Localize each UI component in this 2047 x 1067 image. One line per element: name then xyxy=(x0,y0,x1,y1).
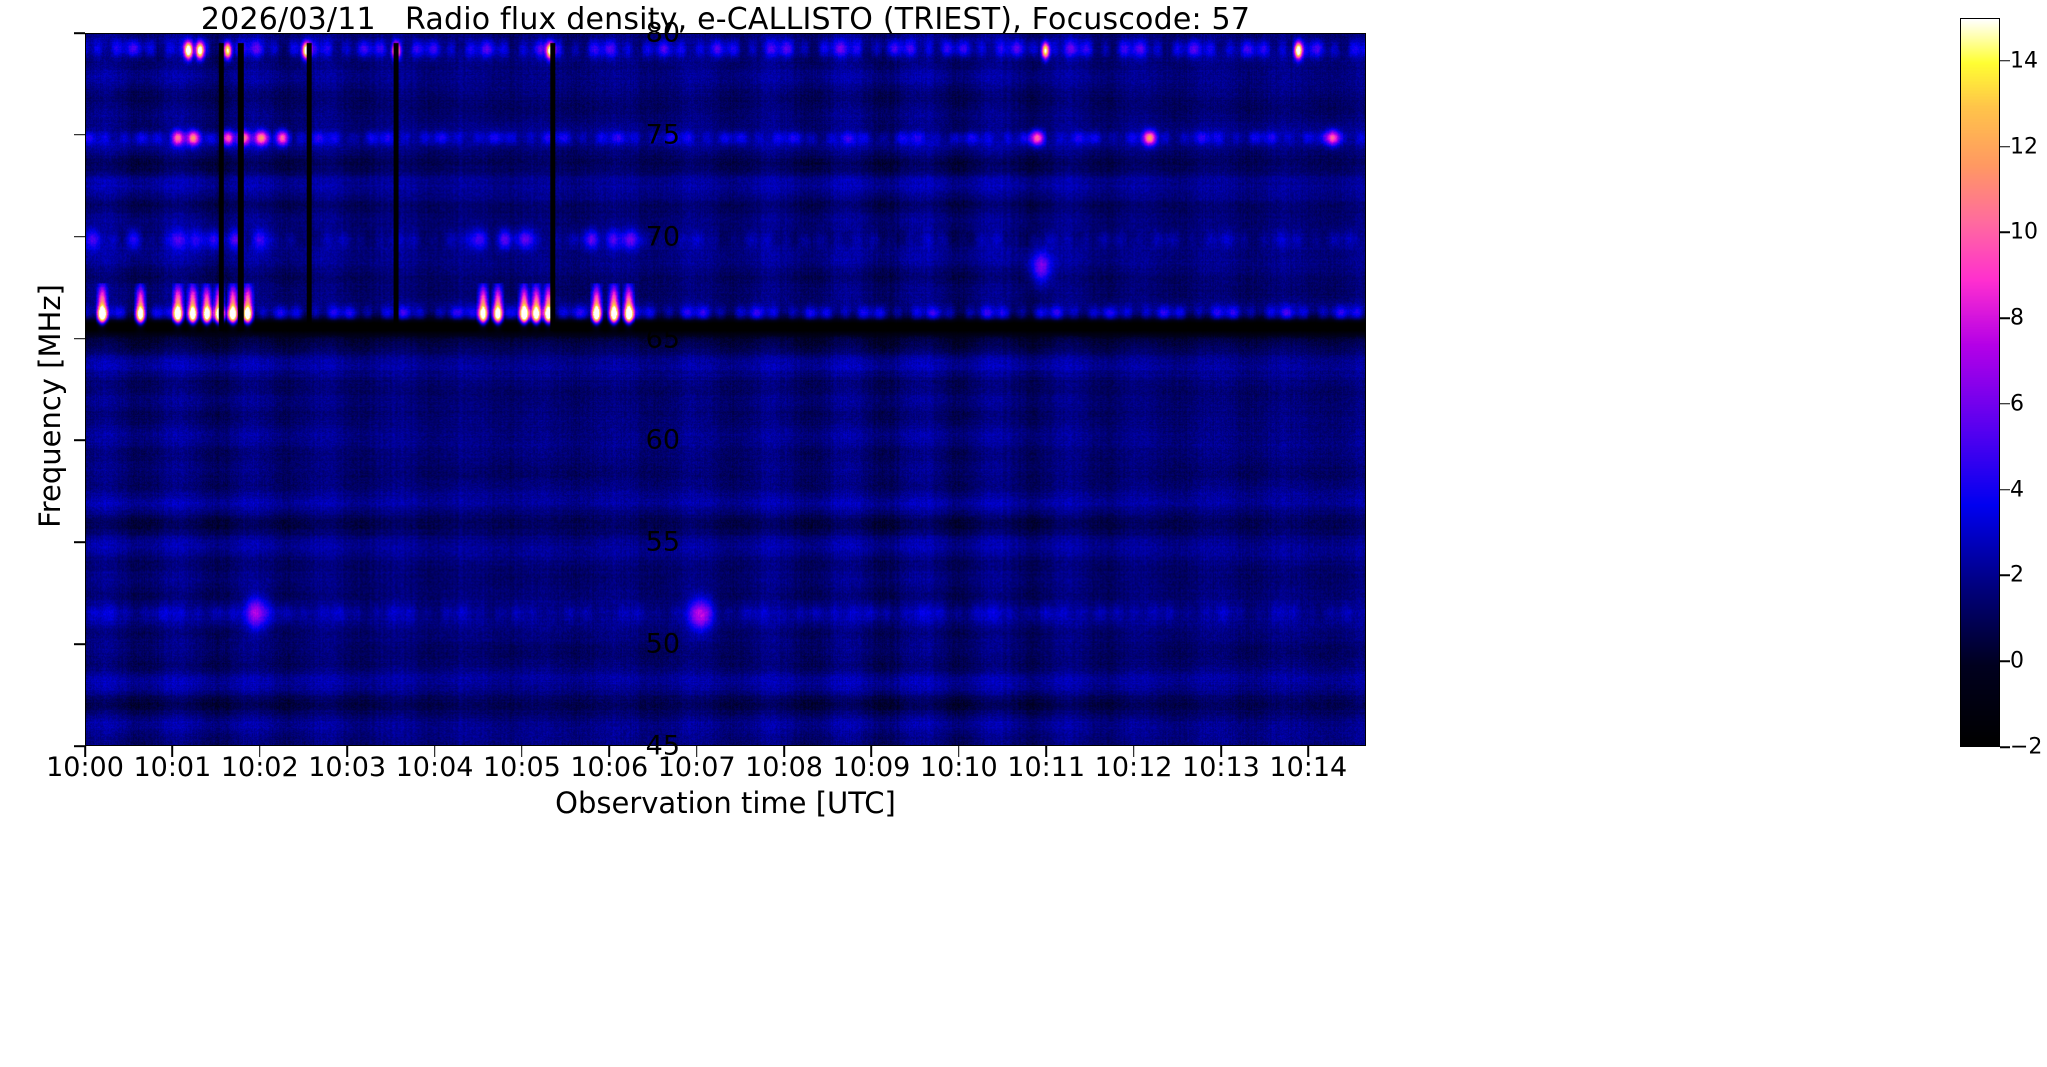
colorbar-tick-label: −2 xyxy=(2010,735,2042,760)
x-axis-label: Observation time [UTC] xyxy=(85,786,1366,820)
y-tick-label: 50 xyxy=(646,629,680,660)
y-axis-label: Frequency [MHz] xyxy=(33,106,67,706)
x-tick-mark xyxy=(1045,746,1047,757)
x-tick-mark xyxy=(696,746,698,757)
colorbar-tick-mark xyxy=(2000,746,2010,748)
x-tick-mark xyxy=(434,746,436,757)
y-tick-mark xyxy=(74,643,85,645)
colorbar-tick-label: 0 xyxy=(2010,649,2024,674)
colorbar-tick-label: 8 xyxy=(2010,306,2024,331)
x-tick-mark xyxy=(84,746,86,757)
x-tick-mark xyxy=(1220,746,1222,757)
y-tick-label: 60 xyxy=(646,425,680,456)
colorbar: 14121086420−2 xyxy=(1960,18,2000,747)
page-title: 2026/03/11 Radio flux density, e-CALLIST… xyxy=(85,2,1366,37)
colorbar-tick-mark xyxy=(2000,489,2010,491)
colorbar-tick-mark xyxy=(2000,575,2010,577)
y-tick-label: 55 xyxy=(646,527,680,558)
x-tick-mark xyxy=(783,746,785,757)
y-tick-label: 70 xyxy=(646,221,680,252)
colorbar-canvas xyxy=(1961,19,1999,746)
colorbar-tick-label: 14 xyxy=(2010,48,2038,73)
y-tick-mark xyxy=(74,134,85,136)
x-tick-mark xyxy=(346,746,348,757)
colorbar-gradient xyxy=(1960,18,2000,747)
colorbar-tick-label: 6 xyxy=(2010,391,2024,416)
spectrogram-axes xyxy=(85,33,1366,746)
x-tick-mark xyxy=(871,746,873,757)
colorbar-tick-label: 4 xyxy=(2010,477,2024,502)
x-tick-mark xyxy=(172,746,174,757)
x-tick-mark xyxy=(1308,746,1310,757)
spectrogram-image xyxy=(86,34,1365,745)
y-tick-label: 75 xyxy=(646,119,680,150)
x-tick-mark xyxy=(1133,746,1135,757)
y-tick-mark xyxy=(74,440,85,442)
colorbar-tick-mark xyxy=(2000,660,2010,662)
colorbar-tick-mark xyxy=(2000,146,2010,148)
colorbar-tick-mark xyxy=(2000,232,2010,234)
colorbar-tick-mark xyxy=(2000,317,2010,319)
colorbar-tick-mark xyxy=(2000,403,2010,405)
spectrogram-figure: 2026/03/11 Radio flux density, e-CALLIST… xyxy=(0,0,2047,1067)
colorbar-tick-label: 10 xyxy=(2010,220,2038,245)
colorbar-tick-label: 2 xyxy=(2010,563,2024,588)
y-tick-mark xyxy=(74,338,85,340)
y-tick-mark xyxy=(74,541,85,543)
x-tick-mark xyxy=(958,746,960,757)
colorbar-tick-label: 12 xyxy=(2010,134,2038,159)
y-tick-mark xyxy=(74,32,85,34)
spectrogram-canvas xyxy=(86,34,1365,745)
y-tick-label: 80 xyxy=(646,18,680,49)
x-tick-mark xyxy=(259,746,261,757)
y-tick-label: 65 xyxy=(646,323,680,354)
x-tick-mark xyxy=(608,746,610,757)
colorbar-tick-mark xyxy=(2000,60,2010,62)
x-tick-mark xyxy=(521,746,523,757)
y-tick-mark xyxy=(74,236,85,238)
